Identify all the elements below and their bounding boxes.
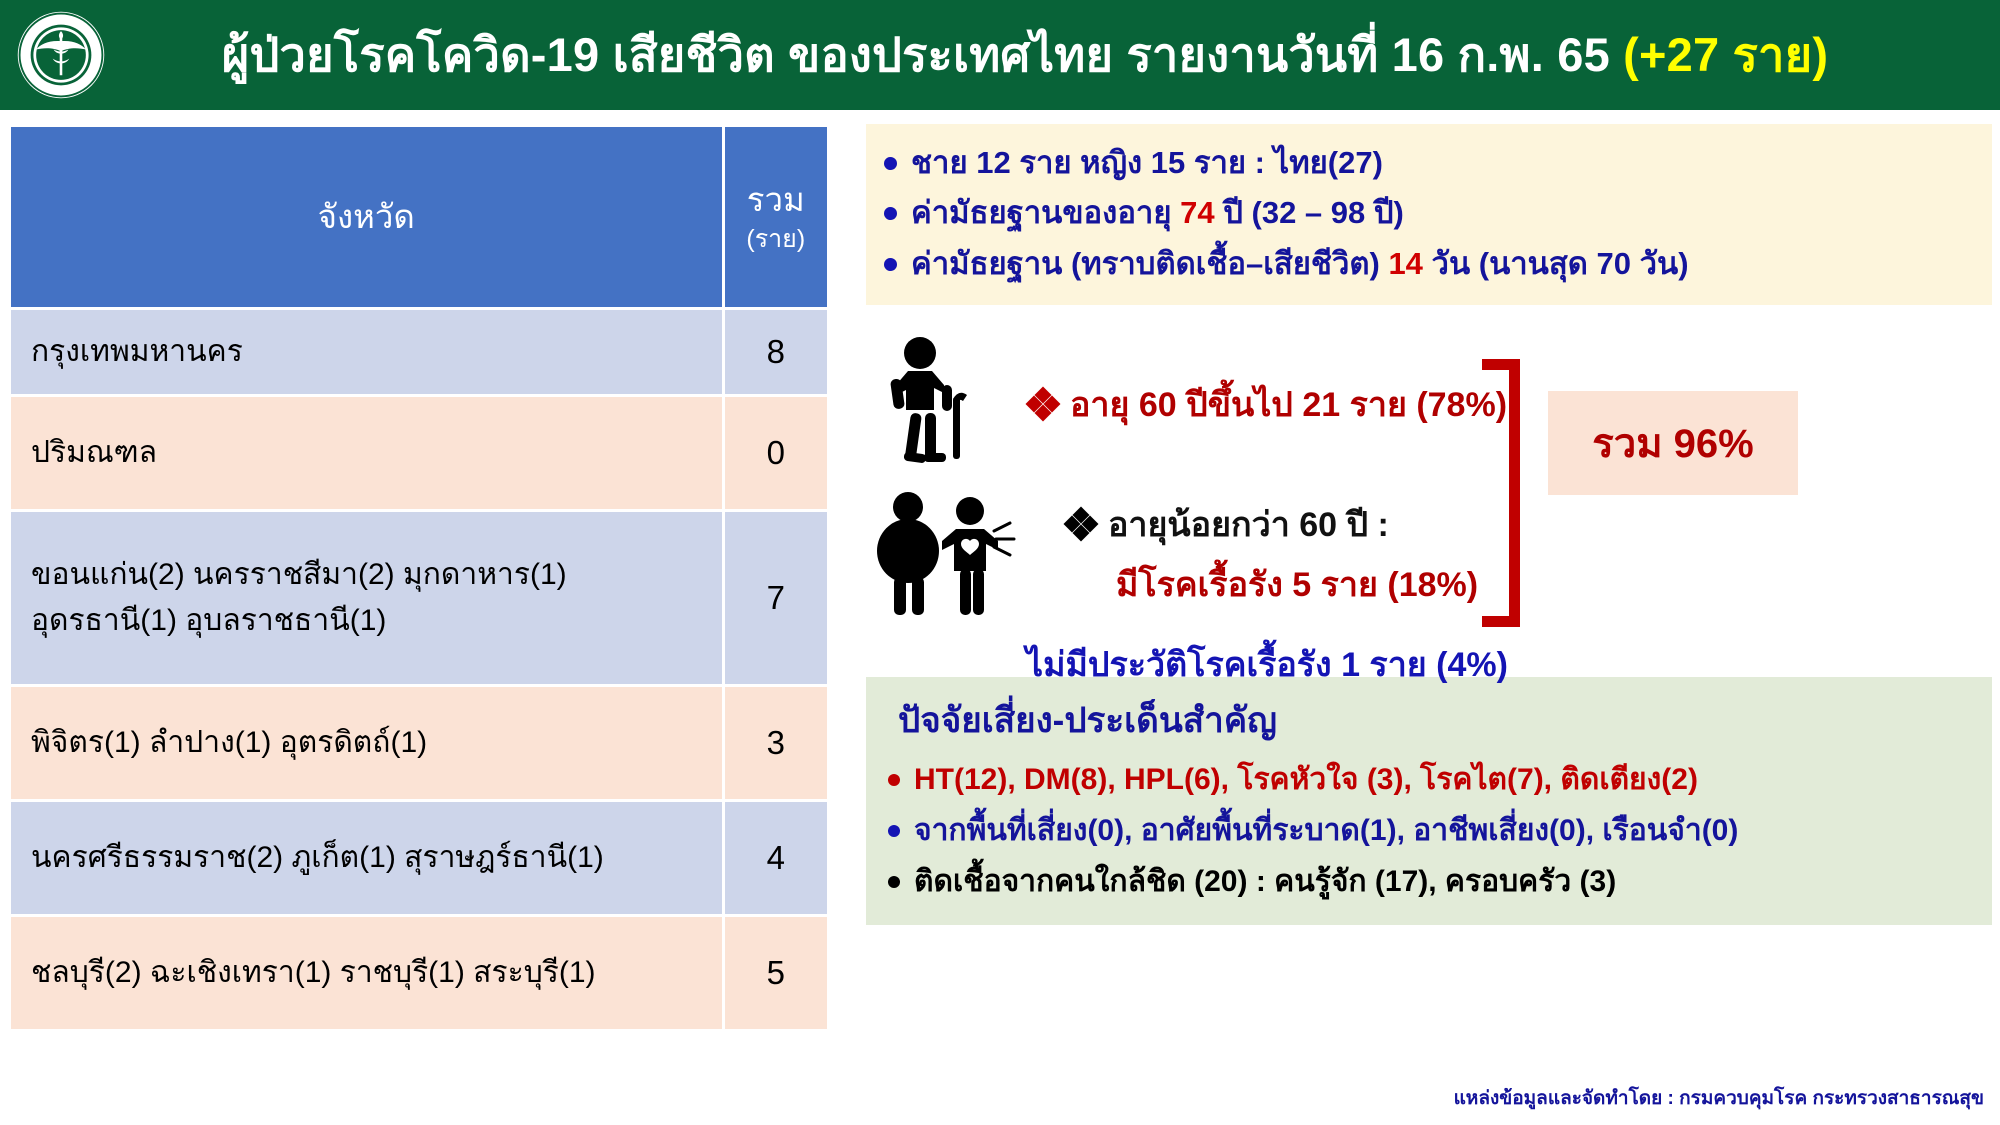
- no-chronic-history-text: ไม่มีประวัติโรคเรื้อรัง 1 ราย (4%): [1026, 637, 1508, 691]
- cell-province: ปริมณฑล: [11, 397, 722, 509]
- table-row: ชลบุรี(2) ฉะเชิงเทรา(1) ราชบุรี(1) สระบุ…: [11, 917, 827, 1029]
- table-row: ปริมณฑล 0: [11, 397, 827, 509]
- table-row: นครศรีธรรมราช(2) ภูเก็ต(1) สุราษฎร์ธานี(…: [11, 802, 827, 914]
- risk-factors-box: ปัจจัยเสี่ยง-ประเด็นสำคัญ HT(12), DM(8),…: [866, 677, 1992, 925]
- age-breakdown-block: อายุ 60 ปีขึ้นไป 21 ราย (78%) อายุน้อยกว…: [866, 319, 1992, 677]
- table-header-row: จังหวัด รวม (ราย): [11, 127, 827, 307]
- risk-item-text: ติดเชื้อจากคนใกล้ชิด (20) : คนรู้จัก (17…: [914, 862, 1616, 901]
- ministry-seal-logo: [14, 8, 108, 102]
- cell-province: พิจิตร(1) ลำปาง(1) อุตรดิตถ์(1): [11, 687, 722, 799]
- median-days-value: 14: [1388, 246, 1422, 281]
- summary-item-median-days: ค่ามัธยฐาน (ทราบติดเชื้อ–เสียชีวิต) 14 ว…: [884, 239, 1974, 289]
- table-row: พิจิตร(1) ลำปาง(1) อุตรดิตถ์(1) 3: [11, 687, 827, 799]
- age-60-plus-line: อายุ 60 ปีขึ้นไป 21 ราย (78%): [1028, 377, 1507, 431]
- column-header-total-unit: (ราย): [725, 224, 827, 255]
- age-under-60-label: อายุน้อยกว่า 60 ปี :: [1108, 497, 1389, 551]
- elderly-person-with-cane-icon: [880, 335, 990, 475]
- obese-and-chronic-illness-persons-icon: [872, 489, 1022, 619]
- risk-item-close-contact: ติดเชื้อจากคนใกล้ชิด (20) : คนรู้จัก (17…: [882, 856, 1976, 907]
- cell-province: ขอนแก่น(2) นครราชสีมา(2) มุกดาหาร(1) อุด…: [11, 512, 722, 684]
- infographic-page: ผู้ป่วยโรคโควิด-19 เสียชีวิต ของประเทศไท…: [0, 0, 2000, 1125]
- summary-item-median-age: ค่ามัธยฐานของอายุ 74 ปี (32 – 98 ปี): [884, 188, 1974, 238]
- cell-province: นครศรีธรรมราช(2) ภูเก็ต(1) สุราษฎร์ธานี(…: [11, 802, 722, 914]
- column-header-total: รวม (ราย): [725, 127, 827, 307]
- table-body: กรุงเทพมหานคร 8 ปริมณฑล 0 ขอนแก่น(2) นคร…: [11, 310, 827, 1029]
- cell-province: กรุงเทพมหานคร: [11, 310, 722, 394]
- page-header: ผู้ป่วยโรคโควิด-19 เสียชีวิต ของประเทศไท…: [0, 0, 2000, 110]
- age-60-plus-text: อายุ 60 ปีขึ้นไป 21 ราย (78%): [1070, 377, 1507, 431]
- table-row: ขอนแก่น(2) นครราชสีมา(2) มุกดาหาร(1) อุด…: [11, 512, 827, 684]
- column-header-province: จังหวัด: [11, 127, 722, 307]
- cell-total: 0: [725, 397, 827, 509]
- bullet-icon: [884, 207, 897, 220]
- page-title-main: ผู้ป่วยโรคโควิด-19 เสียชีวิต ของประเทศไท…: [222, 28, 1610, 81]
- cell-province-line1: ขอนแก่น(2) นครราชสีมา(2) มุกดาหาร(1): [31, 552, 722, 599]
- province-deaths-table: จังหวัด รวม (ราย) กรุงเทพมหานคร 8 ปริมณฑ…: [8, 124, 830, 1032]
- column-header-total-label: รวม: [747, 181, 805, 218]
- combined-total-badge: รวม 96%: [1548, 391, 1798, 495]
- age-under-60-line: อายุน้อยกว่า 60 ปี :: [1066, 497, 1389, 551]
- risk-item-text: จากพื้นที่เสี่ยง(0), อาศัยพื้นที่ระบาด(1…: [914, 811, 1738, 850]
- cell-province-line2: อุดรธานี(1) อุบลราชธานี(1): [31, 598, 722, 645]
- ministry-seal-icon: [15, 9, 107, 101]
- cell-total: 4: [725, 802, 827, 914]
- source-footer: แหล่งข้อมูลและจัดทำโดย : กรมควบคุมโรค กร…: [1454, 1083, 1984, 1113]
- bullet-icon: [888, 774, 900, 786]
- diamond-bullet-icon: [1066, 509, 1096, 539]
- risk-item-comorbidities: HT(12), DM(8), HPL(6), โรคหัวใจ (3), โรค…: [882, 754, 1976, 805]
- diamond-bullet-icon: [1028, 389, 1058, 419]
- under-60-chronic-text: มีโรคเรื้อรัง 5 ราย (18%): [1116, 557, 1478, 611]
- median-age-value: 74: [1180, 195, 1214, 230]
- bullet-icon: [888, 825, 900, 837]
- median-age-suffix: ปี (32 – 98 ปี): [1215, 195, 1404, 230]
- page-title: ผู้ป่วยโรคโควิด-19 เสียชีวิต ของประเทศไท…: [0, 30, 2000, 79]
- table-row: กรุงเทพมหานคร 8: [11, 310, 827, 394]
- cell-total: 3: [725, 687, 827, 799]
- summary-median-age-text: ค่ามัธยฐานของอายุ 74 ปี (32 – 98 ปี): [911, 193, 1404, 233]
- right-panel: ชาย 12 ราย หญิง 15 ราย : ไทย(27) ค่ามัธย…: [866, 124, 1992, 925]
- grouping-bracket-icon: [1482, 359, 1520, 627]
- demographics-summary-box: ชาย 12 ราย หญิง 15 ราย : ไทย(27) ค่ามัธย…: [866, 124, 1992, 305]
- risk-item-text: HT(12), DM(8), HPL(6), โรคหัวใจ (3), โรค…: [914, 760, 1698, 799]
- risk-factors-title: ปัจจัยเสี่ยง-ประเด็นสำคัญ: [882, 689, 1976, 754]
- median-days-suffix: วัน (นานสุด 70 วัน): [1423, 246, 1689, 281]
- median-days-prefix: ค่ามัธยฐาน (ทราบติดเชื้อ–เสียชีวิต): [911, 246, 1388, 281]
- median-age-prefix: ค่ามัธยฐานของอายุ: [911, 195, 1180, 230]
- bullet-icon: [884, 157, 897, 170]
- cell-total: 5: [725, 917, 827, 1029]
- cell-province: ชลบุรี(2) ฉะเชิงเทรา(1) ราชบุรี(1) สระบุ…: [11, 917, 722, 1029]
- cell-total: 7: [725, 512, 827, 684]
- cell-total: 8: [725, 310, 827, 394]
- bullet-icon: [884, 258, 897, 271]
- risk-item-exposure: จากพื้นที่เสี่ยง(0), อาศัยพื้นที่ระบาด(1…: [882, 805, 1976, 856]
- table-head: จังหวัด รวม (ราย): [11, 127, 827, 307]
- summary-sex-text: ชาย 12 ราย หญิง 15 ราย : ไทย(27): [911, 143, 1383, 183]
- page-title-highlight: (+27 ราย): [1623, 28, 1828, 81]
- summary-median-days-text: ค่ามัธยฐาน (ทราบติดเชื้อ–เสียชีวิต) 14 ว…: [911, 244, 1689, 284]
- bullet-icon: [888, 876, 900, 888]
- summary-item-sex: ชาย 12 ราย หญิง 15 ราย : ไทย(27): [884, 138, 1974, 188]
